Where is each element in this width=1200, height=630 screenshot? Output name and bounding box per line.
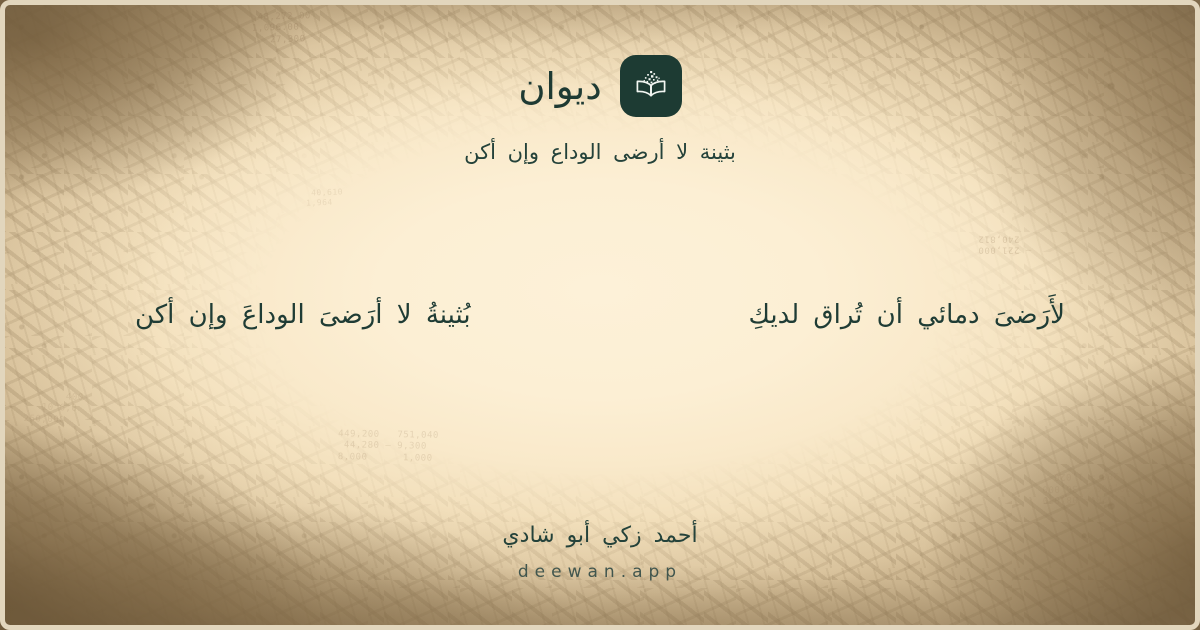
card-footer: أحمد زكي أبو شادي deewan.app — [0, 523, 1200, 582]
poem-author: أحمد زكي أبو شادي — [502, 523, 697, 548]
brand-header[interactable]: ديوان — [518, 55, 681, 117]
site-url[interactable]: deewan.app — [518, 562, 682, 582]
card-content: ديوان بثينة لا أرضى الوداع وإن أكن لأَرَ… — [0, 0, 1200, 630]
verse-line: لأَرَضىَ دمائي أن تُراق لديكِ بُثينةُ لا… — [0, 294, 1200, 337]
poem-card: 48,272.00 1,096.00 27,300 221,000 — 240,… — [0, 0, 1200, 630]
poem-verses: لأَرَضىَ دمائي أن تُراق لديكِ بُثينةُ لا… — [0, 294, 1200, 337]
open-book-sparkles-icon — [620, 55, 682, 117]
brand-name: ديوان — [518, 68, 601, 105]
verse-hemistich-second: لأَرَضىَ دمائي أن تُراق لديكِ — [635, 294, 1065, 337]
verse-hemistich-first: بُثينةُ لا أرَضىَ الوداعَ وإن أكن — [135, 294, 565, 337]
poem-subtitle: بثينة لا أرضى الوداع وإن أكن — [464, 140, 736, 164]
